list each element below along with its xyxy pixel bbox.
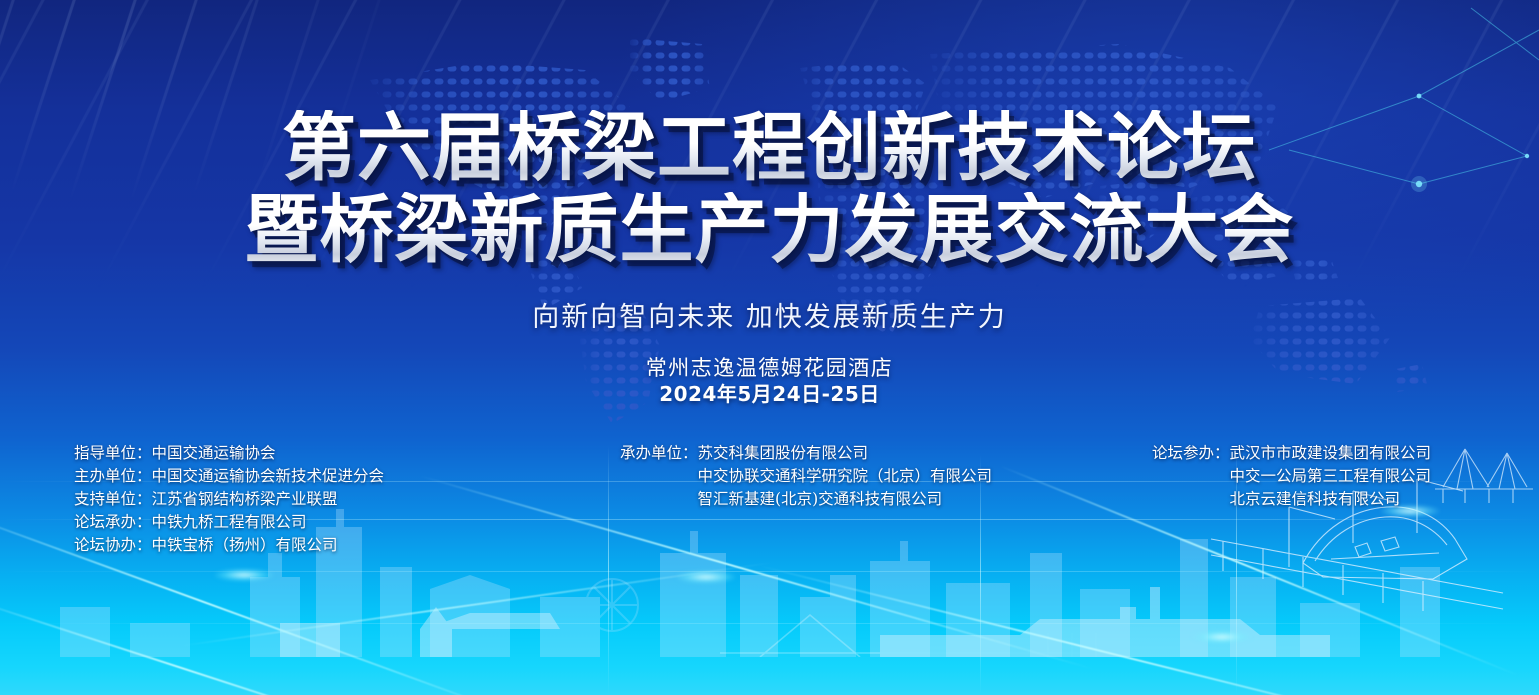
- sponsor-value: 中交协联交通科学研究院（北京）有限公司: [698, 465, 993, 488]
- sponsor-label: 论坛参办：: [1152, 442, 1230, 465]
- sponsor-column-right: 论坛参办： 武汉市市政建设集团有限公司 论坛参办： 中交一公局第三工程有限公司 …: [1152, 442, 1431, 511]
- sponsor-row: 论坛协办： 中铁宝桥（扬州）有限公司: [74, 534, 384, 557]
- sponsor-row: 承办单位： 智汇新基建(北京)交通科技有限公司: [620, 488, 992, 511]
- sponsor-label: 论坛承办：: [74, 511, 152, 534]
- title-line-2: 暨桥梁新质生产力发展交流大会: [0, 192, 1539, 268]
- sponsor-value: 中国交通运输协会: [152, 442, 276, 465]
- slogan: 向新向智向未来 加快发展新质生产力: [0, 295, 1539, 334]
- sponsor-row: 主办单位： 中国交通运输协会新技术促进分会: [74, 465, 384, 488]
- date-text: 2024年5月24日-25日: [0, 378, 1539, 407]
- sponsor-label: 承办单位：: [620, 442, 698, 465]
- banner-content: 第六届桥梁工程创新技术论坛 暨桥梁新质生产力发展交流大会 向新向智向未来 加快发…: [0, 0, 1539, 695]
- sponsor-value: 武汉市市政建设集团有限公司: [1230, 442, 1432, 465]
- sponsor-row: 指导单位： 中国交通运输协会: [74, 442, 384, 465]
- sponsor-label: 论坛协办：: [74, 534, 152, 557]
- sponsor-label: 指导单位：: [74, 442, 152, 465]
- sponsor-row: 论坛参办： 武汉市市政建设集团有限公司: [1152, 442, 1431, 465]
- sponsor-section: 指导单位： 中国交通运输协会 主办单位： 中国交通运输协会新技术促进分会 支持单…: [0, 442, 1539, 562]
- sponsor-row: 承办单位： 中交协联交通科学研究院（北京）有限公司: [620, 465, 992, 488]
- sponsor-label: 支持单位：: [74, 488, 152, 511]
- sponsor-label: 主办单位：: [74, 465, 152, 488]
- sponsor-value: 中国交通运输协会新技术促进分会: [152, 465, 385, 488]
- sponsor-column-middle: 承办单位： 苏交科集团股份有限公司 承办单位： 中交协联交通科学研究院（北京）有…: [620, 442, 992, 511]
- conference-banner: 第六届桥梁工程创新技术论坛 暨桥梁新质生产力发展交流大会 向新向智向未来 加快发…: [0, 0, 1539, 695]
- sponsor-row: 承办单位： 苏交科集团股份有限公司: [620, 442, 992, 465]
- sponsor-row: 支持单位： 江苏省钢结构桥梁产业联盟: [74, 488, 384, 511]
- sponsor-value: 北京云建信科技有限公司: [1230, 488, 1401, 511]
- title-line-1: 第六届桥梁工程创新技术论坛: [0, 110, 1539, 186]
- sponsor-value: 中铁宝桥（扬州）有限公司: [152, 534, 338, 557]
- sponsor-value: 中铁九桥工程有限公司: [152, 511, 307, 534]
- sponsor-value: 中交一公局第三工程有限公司: [1230, 465, 1432, 488]
- sponsor-value: 苏交科集团股份有限公司: [698, 442, 869, 465]
- sponsor-value: 江苏省钢结构桥梁产业联盟: [152, 488, 338, 511]
- sponsor-row: 论坛参办： 北京云建信科技有限公司: [1152, 488, 1431, 511]
- sponsor-row: 论坛参办： 中交一公局第三工程有限公司: [1152, 465, 1431, 488]
- sponsor-row: 论坛承办： 中铁九桥工程有限公司: [74, 511, 384, 534]
- sponsor-column-left: 指导单位： 中国交通运输协会 主办单位： 中国交通运输协会新技术促进分会 支持单…: [74, 442, 384, 557]
- sponsor-value: 智汇新基建(北京)交通科技有限公司: [698, 488, 943, 511]
- title-block: 第六届桥梁工程创新技术论坛 暨桥梁新质生产力发展交流大会: [0, 110, 1539, 268]
